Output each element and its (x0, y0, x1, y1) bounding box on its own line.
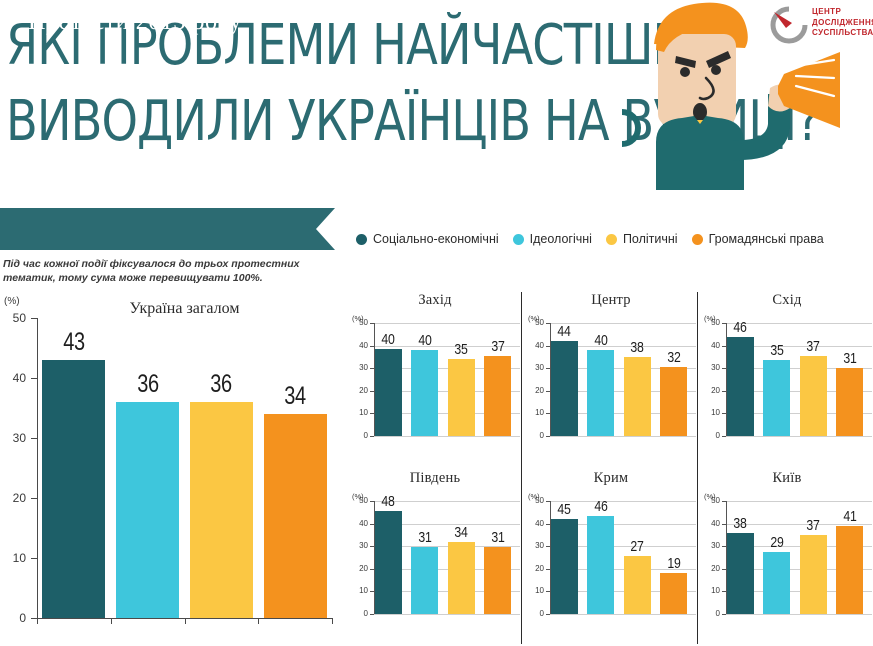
main-bar-value: 43 (46, 328, 102, 357)
panel-bar[interactable] (660, 367, 687, 436)
panel-bar-value: 38 (724, 515, 757, 532)
panel-bar[interactable] (763, 360, 790, 436)
panel-bar-value: 41 (833, 508, 866, 525)
legend-label: Соціально-економічні (373, 232, 499, 246)
main-bar-value: 36 (120, 370, 176, 399)
sweater-body (656, 116, 744, 190)
panel-plot-area: 40403537 (375, 323, 521, 436)
panel-ytick-label: 0 (347, 609, 368, 618)
panel-bar-value: 44 (548, 323, 581, 340)
panel-ytick-label: 30 (523, 363, 544, 372)
panel-bar[interactable] (551, 341, 578, 436)
panel-bar[interactable] (800, 535, 827, 614)
panel-bar[interactable] (624, 357, 651, 436)
panel-ytick-label: 10 (699, 408, 720, 417)
main-plot-area: 43363634 (37, 318, 332, 618)
main-xtick (111, 618, 112, 624)
panel-gridline (726, 436, 872, 437)
panel-ytick-label: 30 (699, 363, 720, 372)
panel-ytick-label: 10 (347, 408, 368, 417)
chart-ukraine-total: (%) Україна загалом 01020304050 43363634 (0, 296, 340, 646)
legend-dot-icon (513, 234, 524, 245)
panel-ytick-label: 0 (523, 431, 544, 440)
panel-bar-value: 31 (408, 529, 441, 546)
legend-item-1[interactable]: Ідеологічні (513, 232, 592, 246)
panel-ytick-label: 50 (523, 318, 544, 327)
panel-ytick-label: 40 (523, 341, 544, 350)
main-ytick-label: 50 (0, 311, 26, 325)
main-ytick-label: 20 (0, 491, 26, 505)
main-ytick-label: 0 (0, 611, 26, 625)
panel-plot-area: 44403832 (551, 323, 697, 436)
panel-ytick-label: 30 (699, 541, 720, 550)
panel-ytick-mark (370, 436, 374, 437)
panel-bar-value: 38 (621, 339, 654, 356)
main-ytick-label: 10 (0, 551, 26, 565)
panel-3: Південь(%)0102030405048313431 (347, 470, 523, 646)
main-bar[interactable] (42, 360, 105, 618)
panel-bar-value: 35 (445, 341, 478, 358)
logo-line-1: ЦЕНТР (812, 7, 873, 18)
legend-label: Політичні (623, 232, 678, 246)
panel-plot-area: 38293741 (727, 501, 873, 614)
panel-0: Захід(%)0102030405040403537 (347, 292, 523, 470)
panel-gridline (374, 436, 520, 437)
main-xtick (37, 618, 38, 624)
panel-ytick-label: 50 (699, 318, 720, 327)
main-bar-value: 36 (193, 370, 249, 399)
panel-4: Крим(%)0102030405045462719 (523, 470, 699, 646)
panel-bar[interactable] (587, 516, 614, 614)
panel-ytick-label: 50 (523, 496, 544, 505)
panel-ytick-label: 10 (523, 408, 544, 417)
panel-ytick-label: 10 (699, 586, 720, 595)
panel-bar[interactable] (375, 349, 402, 436)
panel-bar-value: 40 (584, 332, 617, 349)
panel-ytick-mark (546, 614, 550, 615)
logo-line-3: СУСПІЛЬСТВА (812, 28, 873, 39)
regional-panels: Захід(%)0102030405040403537Центр(%)01020… (345, 290, 873, 646)
panel-ytick-label: 40 (699, 341, 720, 350)
eye-right (711, 65, 721, 75)
panel-bar[interactable] (727, 533, 754, 614)
panel-title: Центр (523, 292, 699, 309)
panel-bar-value: 27 (621, 538, 654, 555)
panel-bar[interactable] (484, 356, 511, 436)
panel-bar-value: 45 (548, 501, 581, 518)
panel-ytick-label: 0 (347, 431, 368, 440)
panel-ytick-label: 20 (523, 386, 544, 395)
panel-bar[interactable] (836, 526, 863, 614)
panel-ytick-label: 20 (699, 564, 720, 573)
panel-ytick-label: 50 (347, 318, 368, 327)
panel-bar[interactable] (411, 350, 438, 436)
panel-bar[interactable] (624, 556, 651, 614)
speech-arc (622, 112, 638, 144)
legend-dot-icon (606, 234, 617, 245)
panel-bar[interactable] (551, 519, 578, 614)
ribbon-label: Протести 2013 року (28, 6, 242, 36)
panel-title: Київ (699, 470, 873, 487)
panel-ytick-label: 20 (347, 386, 368, 395)
panel-bar[interactable] (800, 356, 827, 436)
panel-ytick-label: 0 (699, 431, 720, 440)
section-ribbon (0, 208, 335, 250)
legend: Соціально-економічніІдеологічніПолітичні… (356, 228, 873, 250)
panel-title: Захід (347, 292, 523, 309)
panel-ytick-label: 50 (347, 496, 368, 505)
panel-bar-value: 31 (833, 350, 866, 367)
panel-bar-value: 29 (760, 534, 793, 551)
methodology-note: Під час кожної події фіксувалося до трьо… (3, 258, 333, 285)
legend-label: Громадянські права (709, 232, 824, 246)
legend-dot-icon (692, 234, 703, 245)
panel-ytick-label: 50 (699, 496, 720, 505)
panel-bar-value: 40 (372, 331, 405, 348)
panel-1: Центр(%)0102030405044403832 (523, 292, 699, 470)
panel-bar-value: 37 (481, 338, 514, 355)
panel-bar-value: 40 (408, 332, 441, 349)
logo-text: ЦЕНТР ДОСЛІДЖЕННЯ СУСПІЛЬСТВА (812, 7, 873, 39)
main-xtick (258, 618, 259, 624)
eye-left (680, 67, 690, 77)
panel-bar[interactable] (375, 511, 402, 614)
title-line-2: ВИВОДИЛИ УКРАЇНЦІВ НА ВУЛИЦІ? (6, 84, 595, 160)
panel-ytick-label: 40 (699, 519, 720, 528)
panel-bar[interactable] (411, 547, 438, 614)
panel-ytick-label: 20 (523, 564, 544, 573)
legend-item-3[interactable]: Громадянські права (692, 232, 824, 246)
panel-plot-area: 46353731 (727, 323, 873, 436)
panel-gridline (550, 436, 696, 437)
panel-plot-area: 45462719 (551, 501, 697, 614)
panel-bar[interactable] (727, 337, 754, 436)
logo-mark-icon (770, 6, 808, 44)
legend-dot-icon (356, 234, 367, 245)
panel-title: Схід (699, 292, 873, 309)
main-ytick-label: 30 (0, 431, 26, 445)
panel-ytick-label: 40 (347, 519, 368, 528)
panel-ytick-label: 10 (523, 586, 544, 595)
panel-title: Крим (523, 470, 699, 487)
panel-ytick-mark (546, 436, 550, 437)
panel-bar-value: 46 (724, 319, 757, 336)
panel-ytick-label: 30 (523, 541, 544, 550)
panel-bar[interactable] (448, 542, 475, 614)
main-bar[interactable] (264, 414, 327, 618)
main-bar-value: 34 (267, 382, 323, 411)
main-xtick (185, 618, 186, 624)
legend-item-2[interactable]: Політичні (606, 232, 678, 246)
panel-bar-value: 31 (481, 529, 514, 546)
panel-bar-value: 19 (657, 555, 690, 572)
panel-ytick-label: 30 (347, 541, 368, 550)
main-bar[interactable] (190, 402, 253, 618)
panel-bar[interactable] (836, 368, 863, 436)
legend-label: Ідеологічні (530, 232, 592, 246)
panel-bar-value: 32 (657, 349, 690, 366)
panel-bar-value: 34 (445, 524, 478, 541)
panel-2: Схід(%)0102030405046353731 (699, 292, 873, 470)
panel-ytick-label: 10 (347, 586, 368, 595)
panel-gridline (726, 614, 872, 615)
panel-ytick-label: 0 (699, 609, 720, 618)
panel-plot-area: 48313431 (375, 501, 521, 614)
logo: ЦЕНТР ДОСЛІДЖЕННЯ СУСПІЛЬСТВА (770, 4, 870, 50)
panel-ytick-label: 40 (523, 519, 544, 528)
panel-ytick-label: 0 (523, 609, 544, 618)
main-axis-unit: (%) (4, 296, 20, 307)
panel-ytick-mark (722, 614, 726, 615)
panel-bar[interactable] (763, 552, 790, 614)
panel-bar[interactable] (587, 350, 614, 436)
panel-bar-value: 35 (760, 342, 793, 359)
panel-ytick-label: 20 (347, 564, 368, 573)
legend-item-0[interactable]: Соціально-економічні (356, 232, 499, 246)
panel-bar[interactable] (448, 359, 475, 436)
panel-ytick-mark (722, 436, 726, 437)
panel-ytick-label: 20 (699, 386, 720, 395)
main-ytick-label: 40 (0, 371, 26, 385)
main-xtick (332, 618, 333, 624)
panel-bar-value: 46 (584, 498, 617, 515)
logo-arrow (774, 12, 792, 28)
panel-ytick-label: 40 (347, 341, 368, 350)
panel-gridline (374, 614, 520, 615)
panel-bar-value: 37 (797, 338, 830, 355)
main-chart-title: Україна загалом (37, 300, 332, 318)
main-bar[interactable] (116, 402, 179, 618)
logo-line-2: ДОСЛІДЖЕННЯ (812, 18, 873, 29)
panel-ytick-label: 30 (347, 363, 368, 372)
panel-bar-value: 48 (372, 493, 405, 510)
panel-bar[interactable] (660, 573, 687, 614)
panel-5: Київ(%)0102030405038293741 (699, 470, 873, 646)
panel-ytick-mark (370, 614, 374, 615)
panel-gridline (550, 614, 696, 615)
panel-bar[interactable] (484, 547, 511, 614)
panel-bar-value: 37 (797, 517, 830, 534)
panel-title: Південь (347, 470, 523, 487)
